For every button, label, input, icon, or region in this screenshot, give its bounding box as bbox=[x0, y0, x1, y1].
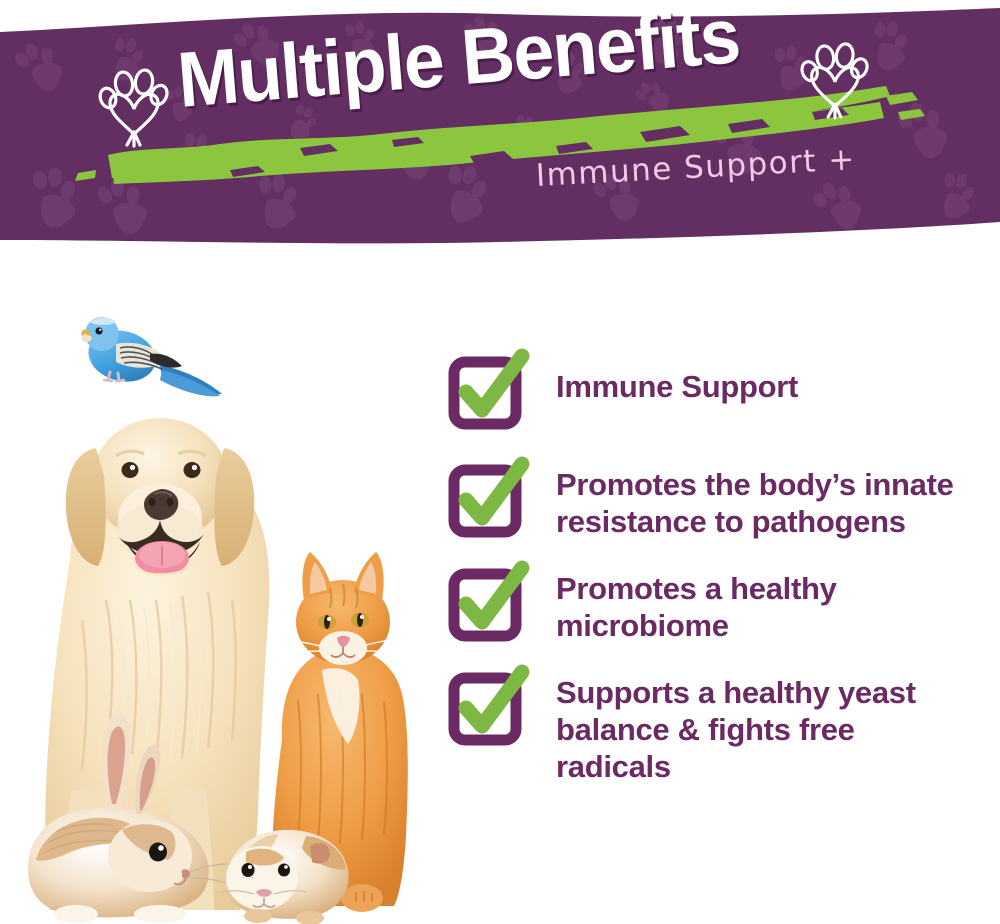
benefit-label: Promotes the body’s innate resistance to… bbox=[556, 458, 956, 540]
benefit-item: Promotes the body’s innate resistance to… bbox=[448, 458, 988, 540]
paw-heart-icon bbox=[96, 62, 170, 148]
pet-group-photo bbox=[10, 270, 440, 924]
header-banner: Multiple Benefits Immune Support + bbox=[0, 0, 1000, 252]
benefit-item: Supports a healthy yeast balance & fight… bbox=[448, 666, 988, 785]
checkbox-checked-icon bbox=[448, 564, 528, 644]
benefit-label: Immune Support bbox=[556, 350, 798, 405]
benefit-item: Immune Support bbox=[448, 350, 988, 432]
benefit-item: Promotes a healthy microbiome bbox=[448, 562, 988, 644]
paw-heart-icon bbox=[798, 36, 870, 120]
checkbox-checked-icon bbox=[448, 668, 528, 748]
checkbox-checked-icon bbox=[448, 460, 528, 540]
benefit-label: Promotes a healthy microbiome bbox=[556, 562, 956, 644]
benefit-label: Supports a healthy yeast balance & fight… bbox=[556, 666, 956, 785]
checkbox-checked-icon bbox=[448, 352, 528, 432]
benefits-list: Immune Support Promotes the body’s innat… bbox=[448, 350, 988, 785]
budgie-parakeet bbox=[81, 317, 222, 396]
